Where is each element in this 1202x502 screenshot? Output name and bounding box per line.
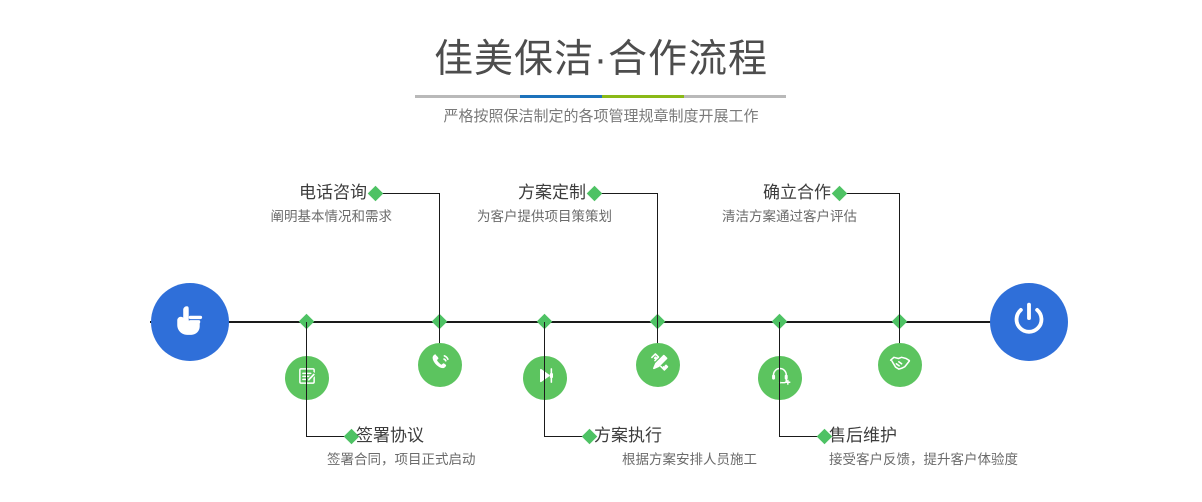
step-title-step-2: 签署协议 [356,425,556,447]
step-icon-step-2[interactable] [285,356,329,400]
step-title-step-6: 售后维护 [829,425,1039,447]
page-header: 佳美保洁·合作流程 严格按照保洁制定的各项管理规章制度开展工作 [0,0,1202,150]
step-desc-step-2: 签署合同，项目正式启动 [327,450,587,470]
label-connector-h-step-5 [840,193,900,194]
page-subtitle: 严格按照保洁制定的各项管理规章制度开展工作 [0,106,1202,128]
step-title-step-4: 方案执行 [594,425,794,447]
phone-call-icon [428,350,453,380]
headset-support-icon [768,363,793,393]
divider-green-segment [602,95,684,98]
process-flow-diagram: 电话咨询 阐明基本情况和需求 签署协议 签署合同，项目正式启动 [0,150,1202,502]
step-icon-step-4[interactable] [523,356,567,400]
label-diamond-step-3 [587,186,603,202]
step-icon-step-1[interactable] [418,343,462,387]
step-title-step-1: 电话咨询 [200,182,367,204]
divider-blue-segment [520,95,602,98]
step-desc-step-3: 为客户提供项目策策划 [350,207,612,227]
page-title: 佳美保洁·合作流程 [0,36,1202,84]
step-desc-step-5: 清洁方案通过客户评估 [595,207,857,227]
step-title-step-3: 方案定制 [420,182,586,204]
label-connector-v-step-6 [779,322,780,437]
label-connector-v-step-2 [306,322,307,437]
label-connector-v-step-4 [544,322,545,437]
label-connector-v-step-5 [899,193,900,323]
step-icon-step-5[interactable] [878,343,922,387]
pencil-ruler-icon [646,350,671,380]
step-icon-step-3[interactable] [636,343,680,387]
flow-end-node[interactable] [990,283,1068,361]
handshake-icon [887,350,913,381]
flow-start-node[interactable] [151,283,229,361]
play-next-icon [533,363,558,393]
step-desc-step-6: 接受客户反馈，提升客户体验度 [829,450,1119,470]
step-icon-step-6[interactable] [758,356,802,400]
step-title-step-5: 确立合作 [665,182,831,204]
label-connector-h-step-3 [595,193,658,194]
pointing-hand-icon [168,298,212,347]
label-diamond-step-5 [832,186,848,202]
power-icon [1006,297,1052,348]
title-divider [415,95,786,98]
label-diamond-step-1 [368,186,384,202]
document-sign-icon [295,364,319,393]
